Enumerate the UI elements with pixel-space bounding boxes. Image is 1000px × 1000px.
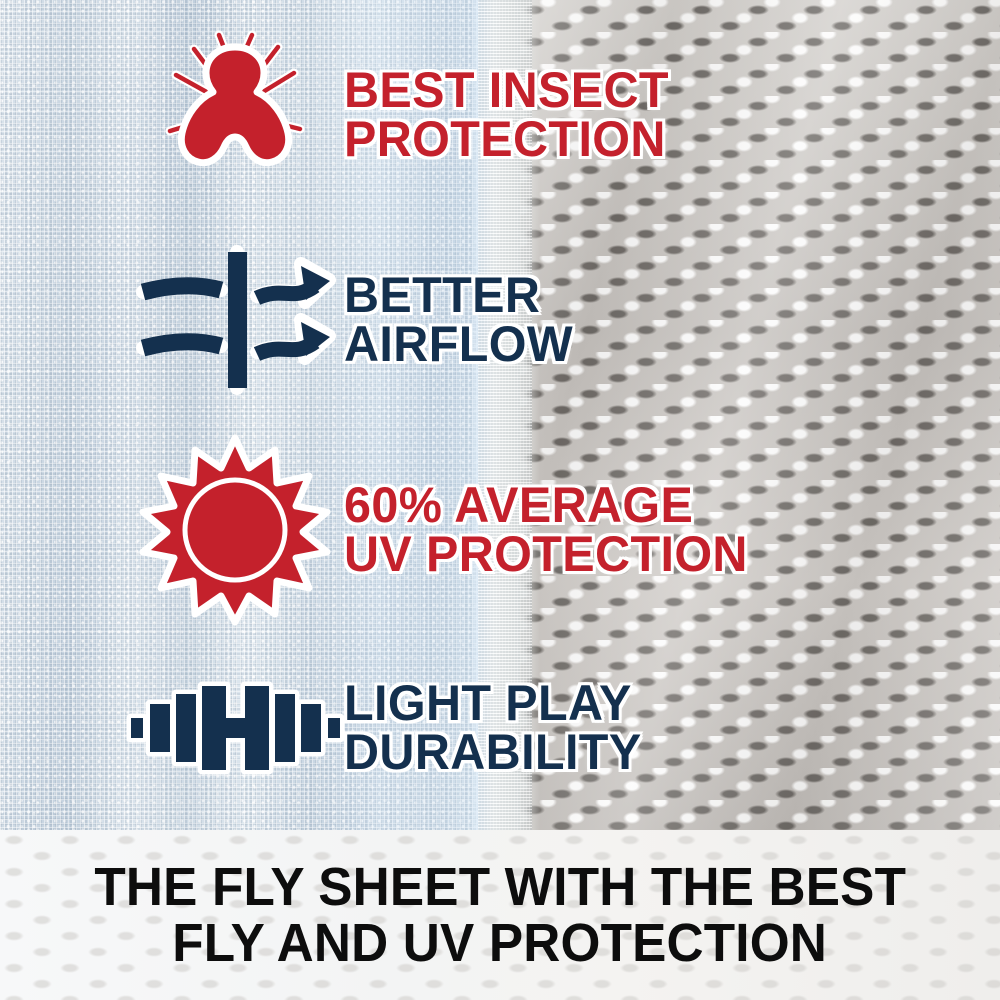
airflow-icon: [133, 240, 338, 400]
feature-line: PROTECTION: [344, 115, 669, 164]
feature-row-insect-protection: BEST INSECT PROTECTION: [130, 20, 950, 210]
feature-text-durability: LIGHT PLAY DURABILITY: [340, 679, 651, 777]
dumbbell-icon: [128, 680, 343, 776]
feature-text-better-airflow: BETTER AIRFLOW: [340, 271, 580, 369]
feature-icon-slot: [130, 23, 340, 208]
feature-line: DURABILITY: [344, 728, 642, 777]
feature-line: BETTER: [344, 271, 573, 320]
feature-icon-slot: [130, 240, 340, 400]
feature-line: LIGHT PLAY: [344, 679, 642, 728]
caption-line-2: FLY AND UV PROTECTION: [173, 915, 828, 971]
infographic-stage: BEST INSECT PROTECTION: [0, 0, 1000, 1000]
feature-text-uv-protection: 60% AVERAGE UV PROTECTION: [340, 481, 760, 579]
feature-row-uv-protection: 60% AVERAGE UV PROTECTION: [130, 430, 950, 630]
feature-text-insect-protection: BEST INSECT PROTECTION: [340, 66, 679, 164]
feature-line: BEST INSECT: [344, 66, 669, 115]
feature-line: AIRFLOW: [344, 320, 573, 369]
feature-list: BEST INSECT PROTECTION: [0, 0, 1000, 830]
feature-icon-slot: [130, 680, 340, 776]
sun-icon: [140, 435, 330, 625]
caption-line-1: THE FLY SHEET WITH THE BEST: [94, 859, 906, 915]
caption-bar: THE FLY SHEET WITH THE BEST FLY AND UV P…: [0, 830, 1000, 1000]
feature-line: UV PROTECTION: [344, 530, 748, 579]
feature-line: 60% AVERAGE: [344, 481, 748, 530]
feature-icon-slot: [130, 435, 340, 625]
feature-row-durability: LIGHT PLAY DURABILITY: [130, 645, 950, 810]
fly-icon: [160, 23, 310, 208]
feature-row-better-airflow: BETTER AIRFLOW: [130, 232, 950, 407]
